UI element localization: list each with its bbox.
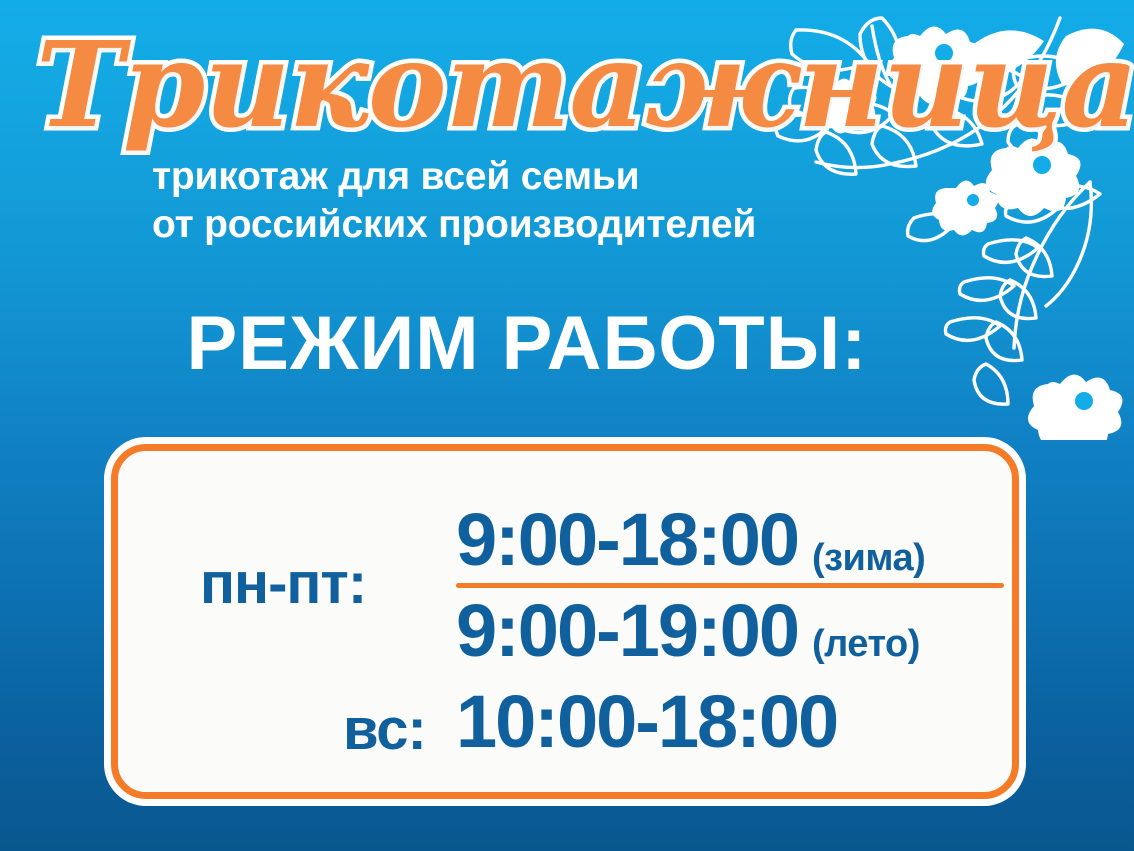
schedule-row-weekday: пн-пт: 9:00-18:00 (зима) 9:00-19:00 (лет… <box>118 469 1012 669</box>
schedule-card-inner: пн-пт: 9:00-18:00 (зима) 9:00-19:00 (лет… <box>111 444 1019 799</box>
season-divider <box>456 583 1004 588</box>
weekday-times: 9:00-18:00 (зима) 9:00-19:00 (лето) <box>456 489 1004 682</box>
poster-canvas: Трикотажница трикотаж для всей семьи от … <box>0 0 1134 851</box>
page-title-text: РЕЖИМ РАБОТЫ: <box>187 301 948 386</box>
brand-tagline: трикотаж для всей семьи от российских пр… <box>152 153 882 248</box>
schedule-row-sunday: вс: 10:00-18:00 <box>118 679 1012 779</box>
weekday-winter-season: (зима) <box>812 539 925 577</box>
weekday-summer-time: 9:00-19:00 <box>456 594 798 668</box>
schedule-card: пн-пт: 9:00-18:00 (зима) 9:00-19:00 (лет… <box>104 437 1026 806</box>
brand-logo-text: Трикотажница <box>36 22 882 147</box>
weekday-label: пн-пт: <box>200 555 366 613</box>
weekday-summer-line: 9:00-19:00 (лето) <box>456 594 1004 682</box>
sunday-label: вс: <box>343 701 426 759</box>
weekday-winter-line: 9:00-18:00 (зима) <box>456 489 1004 581</box>
tagline-line-2: от российских производителей <box>152 201 882 249</box>
weekday-summer-season: (лето) <box>812 625 920 663</box>
weekday-winter-time: 9:00-18:00 <box>456 503 798 577</box>
brand-logo-block: Трикотажница трикотаж для всей семьи от … <box>22 22 882 248</box>
tagline-line-1: трикотаж для всей семьи <box>152 153 882 201</box>
sunday-time: 10:00-18:00 <box>456 685 837 759</box>
page-title: РЕЖИМ РАБОТЫ: <box>0 306 1134 382</box>
